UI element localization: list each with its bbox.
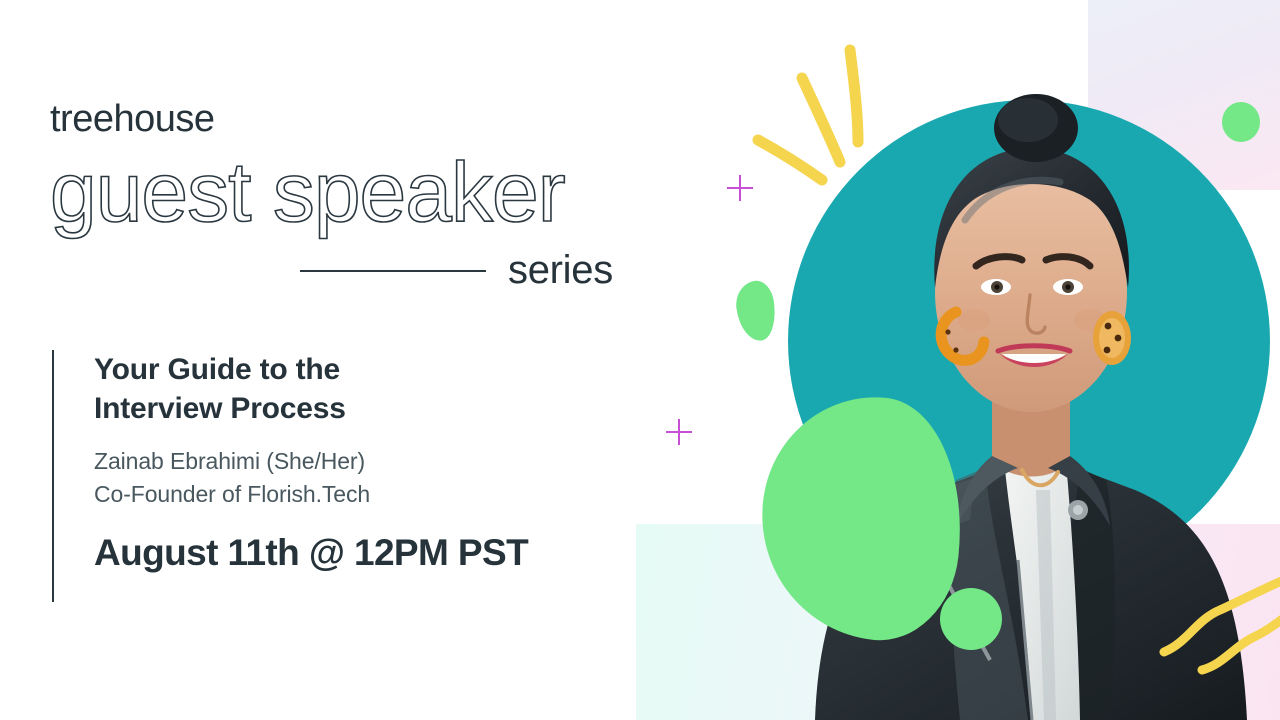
speaker-role: Co-Founder of Florish.Tech xyxy=(94,478,652,511)
promo-slide: treehouse guest speaker series Your Guid… xyxy=(0,0,1280,720)
event-details-block: Your Guide to the Interview Process Zain… xyxy=(52,350,652,602)
series-outline-title: guest speaker xyxy=(50,150,650,234)
headline-block: treehouse guest speaker series xyxy=(50,100,650,293)
green-circle-top-right xyxy=(1222,102,1260,142)
talk-title: Your Guide to the Interview Process xyxy=(94,350,652,428)
talk-title-line1: Your Guide to the xyxy=(94,350,652,389)
magenta-plus-lower-icon xyxy=(666,419,692,445)
yellow-sparkle-strokes xyxy=(740,30,900,210)
talk-title-line2: Interview Process xyxy=(94,389,652,428)
series-word: series xyxy=(508,248,613,293)
series-divider-rule xyxy=(300,270,486,272)
brand-name: treehouse xyxy=(50,100,650,138)
event-datetime: August 11th @ 12PM PST xyxy=(94,532,652,574)
yellow-wavy-strokes xyxy=(1150,570,1280,680)
speaker-name: Zainab Ebrahimi (She/Her) xyxy=(94,445,652,478)
series-row: series xyxy=(50,248,650,293)
green-circle-bottom xyxy=(940,588,1002,650)
